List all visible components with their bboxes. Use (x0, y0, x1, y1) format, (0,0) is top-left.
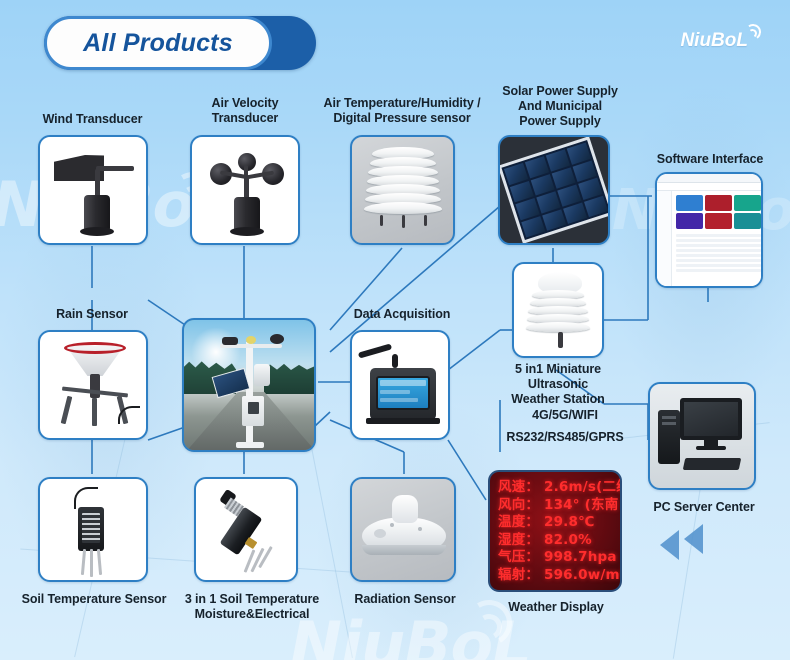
air-temp-humidity-photo (352, 137, 453, 243)
ultrasonic-station-card[interactable] (512, 262, 604, 358)
air-velocity-photo (192, 137, 298, 243)
soil-temperature-card[interactable] (38, 477, 148, 582)
air-temp-humidity-label: Air Temperature/Humidity / Digital Press… (312, 96, 492, 126)
all-products-button-inner: All Products (44, 16, 272, 70)
brand-logo: NiuBoL (680, 30, 748, 52)
brand-text: NiuBoL (680, 30, 748, 51)
solar-power-card[interactable] (498, 135, 610, 245)
software-interface-label: Software Interface (640, 152, 780, 167)
soil-temperature-label: Soil Temperature Sensor (14, 592, 174, 607)
soil-3in1-card[interactable] (194, 477, 298, 582)
ultrasonic-station-label: 5 in1 Miniature Ultrasonic Weather Stati… (487, 362, 629, 406)
wireless-protocol-label: 4G/5G/WIFI (510, 408, 620, 423)
chevron-left-icon-2 (684, 524, 703, 554)
dashboard-tabbar (657, 183, 761, 191)
background-tower-line-2 (308, 432, 353, 658)
dashboard-tile-2 (705, 195, 732, 211)
air-velocity-card[interactable] (190, 135, 300, 245)
data-acquisition-label: Data Acquisition (332, 307, 472, 322)
display-line-wind-direction: 风向： 134° (东南 (498, 497, 620, 515)
weather-station-hub-card[interactable] (182, 318, 316, 452)
display-line-pressure: 气压： 998.7hpa (498, 549, 620, 567)
display-line-radiation: 辐射： 596.0w/m² (498, 567, 620, 585)
software-dashboard (657, 174, 761, 286)
solar-power-label: Solar Power Supply And Municipal Power S… (490, 84, 630, 128)
display-line-temperature: 温度： 29.8℃ (498, 514, 620, 532)
pc-server-center-photo (650, 384, 754, 488)
rain-sensor-photo (40, 332, 146, 438)
display-line-humidity: 湿度： 82.0% (498, 532, 620, 550)
software-interface-card[interactable] (655, 172, 763, 288)
weather-display-label: Weather Display (494, 600, 618, 615)
all-products-button[interactable]: All Products (44, 16, 316, 70)
display-line-wind-speed: 风速： 2.6m/s(二级 (498, 479, 620, 497)
wind-transducer-photo (40, 137, 146, 243)
soil-temperature-photo (40, 479, 146, 580)
wind-transducer-card[interactable] (38, 135, 148, 245)
watermark-bottom-wifi-icon-small (473, 611, 505, 643)
solar-power-photo (500, 137, 608, 243)
pc-server-center-card[interactable] (648, 382, 756, 490)
chevron-left-icon-1 (660, 530, 679, 560)
weather-display-panel[interactable]: 风速： 2.6m/s(二级 风向： 134° (东南 温度： 29.8℃ 湿度：… (488, 470, 622, 592)
air-temp-humidity-card[interactable] (350, 135, 455, 245)
dashboard-table (676, 234, 761, 272)
dashboard-topbar (657, 174, 761, 183)
air-velocity-label: Air Velocity Transducer (175, 96, 315, 126)
dashboard-sidebar (657, 191, 672, 286)
dashboard-tile-3 (734, 195, 761, 211)
rain-sensor-card[interactable] (38, 330, 148, 440)
soil-3in1-photo (196, 479, 296, 580)
radiation-sensor-photo (352, 479, 454, 580)
dashboard-tile-1 (676, 195, 703, 211)
dashboard-tile-5 (705, 213, 732, 229)
wind-transducer-label: Wind Transducer (20, 112, 165, 127)
ultrasonic-station-photo (514, 264, 602, 356)
wired-protocol-label: RS232/RS485/GPRS (492, 430, 638, 445)
data-acquisition-card[interactable] (350, 330, 450, 440)
weather-station-hub-photo (184, 320, 314, 450)
infographic-page: NiuBoL NiuBoL NiuBoL (0, 0, 790, 660)
radiation-sensor-label: Radiation Sensor (340, 592, 470, 607)
soil-3in1-label: 3 in 1 Soil Temperature Moisture&Electri… (176, 592, 328, 622)
radiation-sensor-card[interactable] (350, 477, 456, 582)
pc-server-center-label: PC Server Center (640, 500, 768, 515)
dashboard-tiles (676, 195, 761, 229)
all-products-label: All Products (83, 29, 233, 58)
data-acquisition-photo (352, 332, 448, 438)
dashboard-tile-6 (734, 213, 761, 229)
dashboard-tile-4 (676, 213, 703, 229)
rain-sensor-label: Rain Sensor (22, 307, 162, 322)
